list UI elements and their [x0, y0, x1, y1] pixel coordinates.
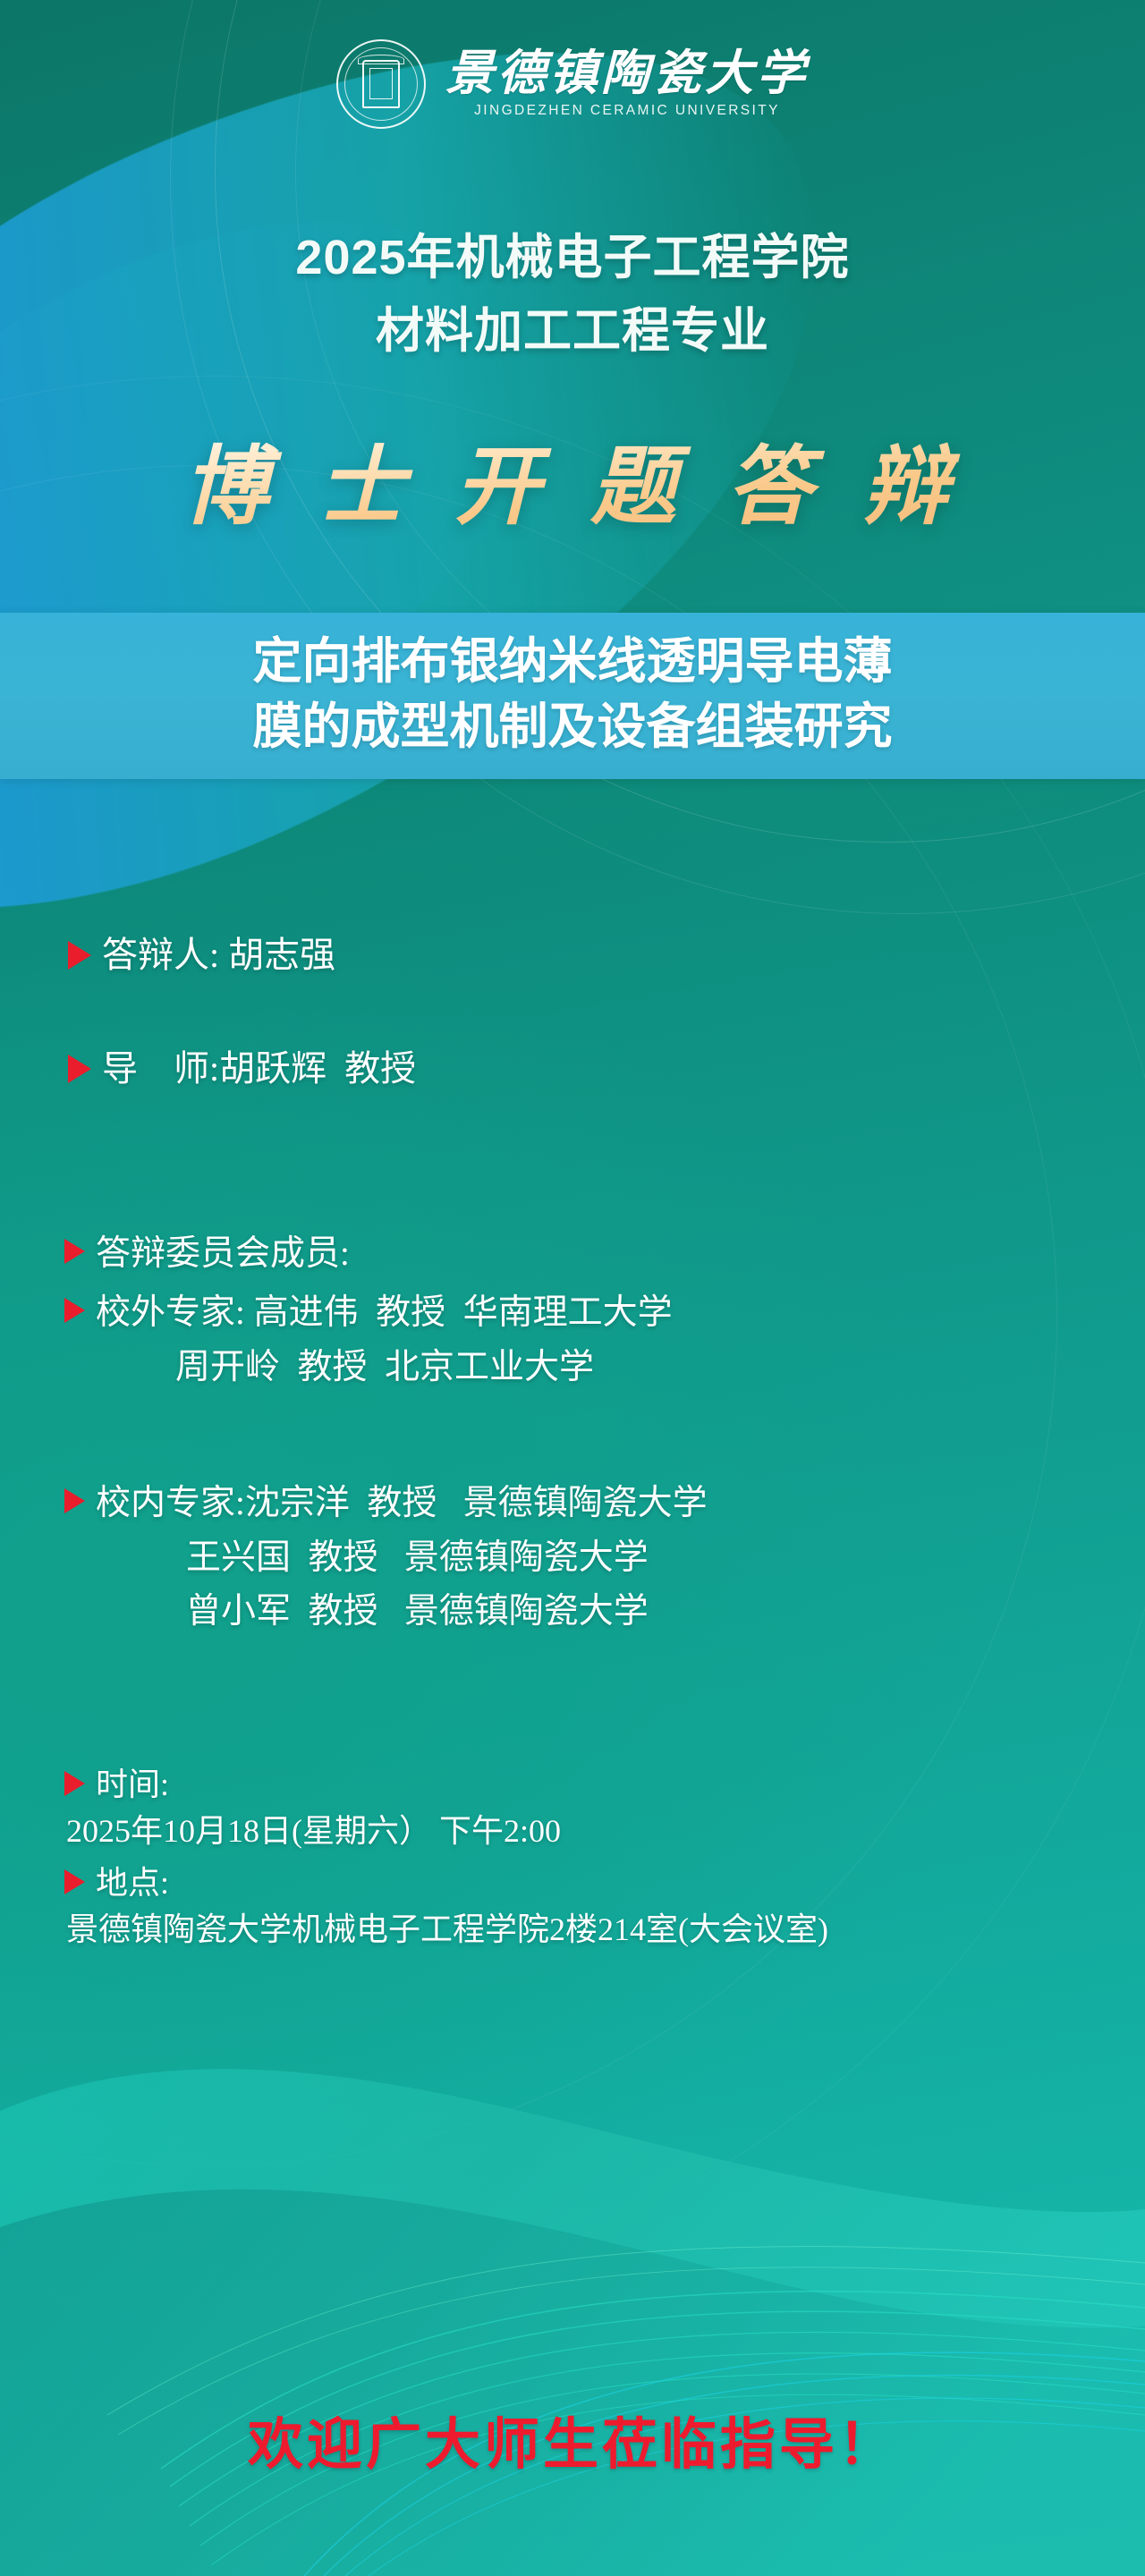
- seal-emblem-icon: [362, 60, 400, 108]
- advisor-row: 导 师:胡跃辉 教授: [0, 1044, 1145, 1095]
- thesis-title-band: 定向排布银纳米线透明导电薄 膜的成型机制及设备组装研究: [0, 613, 1145, 779]
- internal-expert-text-3: 曾小军 教授 景德镇陶瓷大学: [186, 1587, 649, 1638]
- place-label-text: 地点:: [96, 1860, 169, 1906]
- bullet-triangle-icon: [68, 1055, 91, 1083]
- university-logo: 景德镇陶瓷大学 JINGDEZHEN CERAMIC UNIVERSITY: [0, 39, 1145, 129]
- time-value-row: 2025年10月18日(星期六） 下午2:00: [0, 1808, 1145, 1854]
- committee-heading-row: 答辩委员会成员:: [0, 1229, 1145, 1280]
- bullet-triangle-icon: [64, 1298, 85, 1323]
- place-value-text: 景德镇陶瓷大学机械电子工程学院2楼214室(大会议室): [66, 1906, 828, 1953]
- internal-expert-row-3: 曾小军 教授 景德镇陶瓷大学: [0, 1587, 1145, 1638]
- thesis-title-line-1: 定向排布银纳米线透明导电薄: [0, 629, 1145, 694]
- external-expert-row-1: 校外专家: 高进伟 教授 华南理工大学: [0, 1288, 1145, 1339]
- external-expert-text-2: 周开岭 教授 北京工业大学: [175, 1343, 594, 1394]
- defense-announcement-poster: 景德镇陶瓷大学 JINGDEZHEN CERAMIC UNIVERSITY 20…: [0, 0, 1145, 2576]
- bullet-triangle-icon: [64, 1771, 85, 1796]
- presenter-text: 答辩人: 胡志强: [102, 930, 335, 981]
- place-value-row: 景德镇陶瓷大学机械电子工程学院2楼214室(大会议室): [0, 1906, 1145, 1953]
- advisor-text: 导 师:胡跃辉 教授: [102, 1044, 416, 1095]
- presenter-row: 答辩人: 胡志强: [0, 930, 1145, 981]
- event-calligraphy-title: 博 士 开 题 答 辩: [0, 429, 1145, 546]
- bullet-triangle-icon: [64, 1239, 85, 1264]
- external-expert-text-1: 校外专家: 高进伟 教授 华南理工大学: [96, 1288, 673, 1339]
- internal-expert-text-2: 王兴国 教授 景德镇陶瓷大学: [186, 1533, 649, 1584]
- internal-expert-text-1: 校内专家:沈宗洋 教授 景德镇陶瓷大学: [96, 1479, 708, 1529]
- defense-details: 答辩人: 胡志强 导 师:胡跃辉 教授 答辩委员会成员: 校外专家: 高进伟 教…: [0, 930, 1145, 1953]
- university-name-en: JINGDEZHEN CERAMIC UNIVERSITY: [474, 103, 780, 119]
- header-line-1: 2025年机械电子工程学院: [0, 217, 1145, 288]
- time-value-text: 2025年10月18日(星期六） 下午2:00: [66, 1808, 561, 1854]
- welcome-message: 欢迎广大师生莅临指导！: [0, 2399, 1145, 2479]
- committee-heading-text: 答辩委员会成员:: [96, 1229, 350, 1280]
- bullet-triangle-icon: [68, 941, 91, 970]
- internal-expert-row-2: 王兴国 教授 景德镇陶瓷大学: [0, 1533, 1145, 1584]
- university-name-block: 景德镇陶瓷大学 JINGDEZHEN CERAMIC UNIVERSITY: [445, 49, 809, 119]
- thesis-title-line-2: 膜的成型机制及设备组装研究: [0, 694, 1145, 759]
- bullet-triangle-icon: [64, 1869, 85, 1894]
- place-label-row: 地点:: [0, 1860, 1145, 1906]
- external-expert-row-2: 周开岭 教授 北京工业大学: [0, 1343, 1145, 1394]
- time-label-row: 时间:: [0, 1761, 1145, 1808]
- university-seal-icon: [336, 39, 426, 129]
- time-label-text: 时间:: [96, 1761, 169, 1808]
- bullet-triangle-icon: [64, 1488, 85, 1513]
- header-line-2: 材料加工工程专业: [0, 291, 1145, 361]
- internal-expert-row-1: 校内专家:沈宗洋 教授 景德镇陶瓷大学: [0, 1479, 1145, 1529]
- university-name-cn: 景德镇陶瓷大学: [445, 49, 809, 97]
